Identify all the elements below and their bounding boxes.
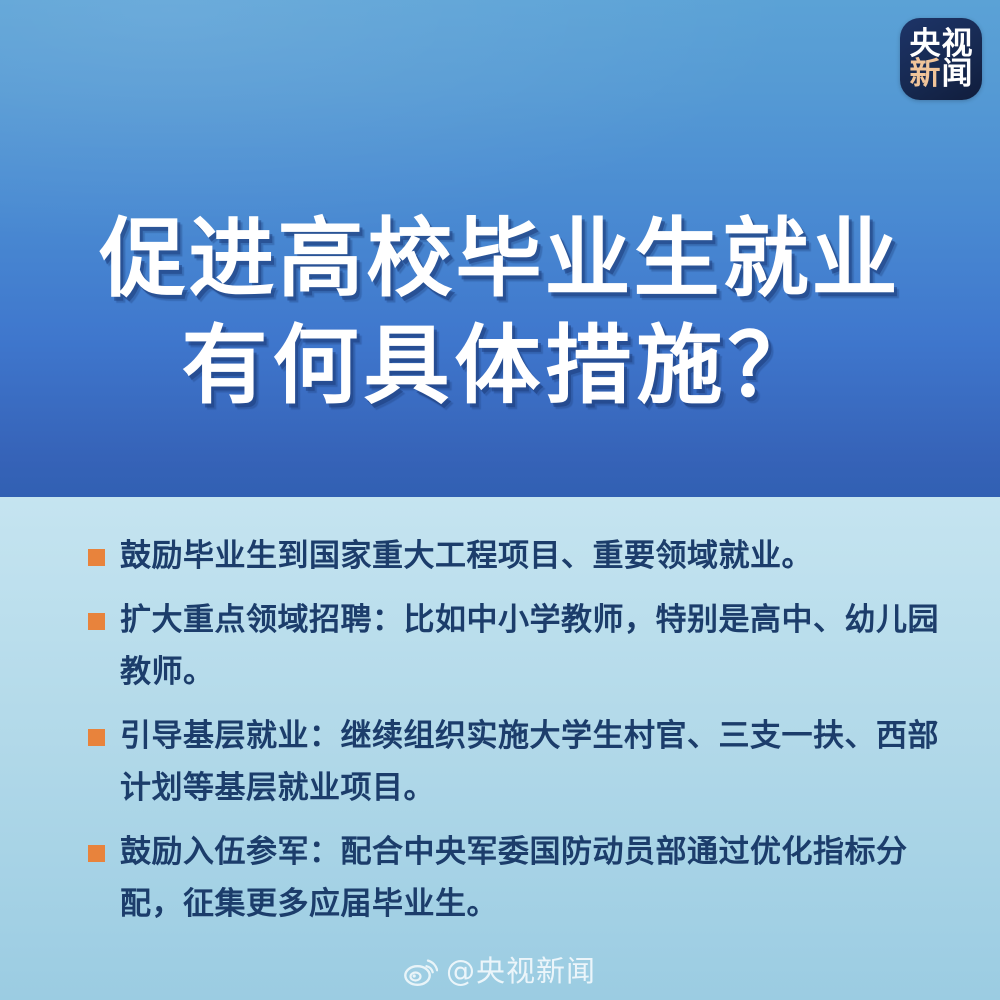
square-bullet-icon bbox=[88, 613, 105, 630]
list-item: 鼓励入伍参军：配合中央军委国防动员部通过优化指标分配，征集更多应届毕业生。 bbox=[88, 826, 940, 930]
list-item: 鼓励毕业生到国家重大工程项目、重要领域就业。 bbox=[88, 530, 940, 582]
square-bullet-icon bbox=[88, 845, 105, 862]
logo-char-yang: 央 bbox=[909, 29, 941, 59]
logo-row-bottom: 新 闻 bbox=[909, 59, 973, 89]
measures-panel: 鼓励毕业生到国家重大工程项目、重要领域就业。 扩大重点领域招聘：比如中小学教师，… bbox=[0, 497, 1000, 1000]
logo-char-xin: 新 bbox=[909, 59, 941, 89]
page-title: 促进高校毕业生就业 有何具体措施？ bbox=[0, 206, 1000, 419]
list-item-text: 引导基层就业：继续组织实施大学生村官、三支一扶、西部计划等基层就业项目。 bbox=[120, 718, 939, 806]
measures-list: 鼓励毕业生到国家重大工程项目、重要领域就业。 扩大重点领域招聘：比如中小学教师，… bbox=[88, 530, 940, 931]
headline-line-1: 促进高校毕业生就业 bbox=[0, 206, 1000, 313]
poster: 央 视 新 闻 促进高校毕业生就业 有何具体措施？ 鼓励毕业生到国家重大工程项目… bbox=[0, 0, 1000, 1000]
list-item-text: 扩大重点领域招聘：比如中小学教师，特别是高中、幼儿园教师。 bbox=[120, 602, 939, 690]
square-bullet-icon bbox=[88, 729, 105, 746]
logo-char-wen: 闻 bbox=[941, 59, 973, 89]
list-item: 引导基层就业：继续组织实施大学生村官、三支一扶、西部计划等基层就业项目。 bbox=[88, 710, 940, 814]
logo-char-shi: 视 bbox=[941, 29, 973, 59]
logo-row-top: 央 视 bbox=[909, 29, 973, 59]
list-item: 扩大重点领域招聘：比如中小学教师，特别是高中、幼儿园教师。 bbox=[88, 594, 940, 698]
cctv-news-logo[interactable]: 央 视 新 闻 bbox=[900, 18, 982, 100]
list-item-text: 鼓励毕业生到国家重大工程项目、重要领域就业。 bbox=[120, 538, 813, 574]
header-banner: 央 视 新 闻 促进高校毕业生就业 有何具体措施？ bbox=[0, 0, 1000, 497]
list-item-text: 鼓励入伍参军：配合中央军委国防动员部通过优化指标分配，征集更多应届毕业生。 bbox=[120, 834, 908, 922]
square-bullet-icon bbox=[88, 549, 105, 566]
headline-line-2: 有何具体措施？ bbox=[0, 313, 1000, 420]
